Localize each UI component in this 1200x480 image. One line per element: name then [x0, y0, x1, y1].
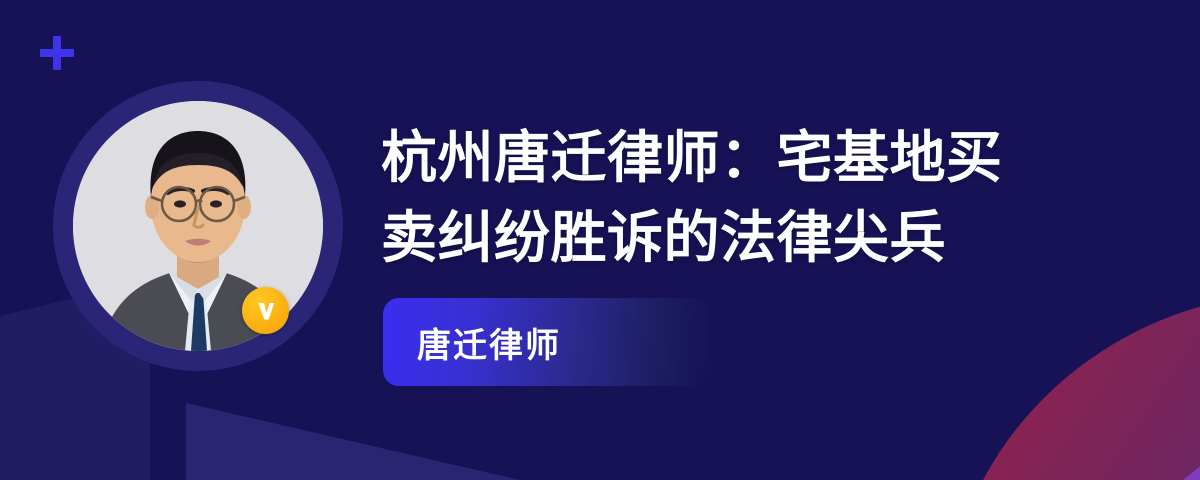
- author-badge-button[interactable]: 唐迁律师: [383, 298, 710, 386]
- promo-banner: 杭州唐迁律师：宅基地买 卖纠纷胜诉的法律尖兵 唐迁律师: [0, 0, 1200, 480]
- verified-badge: [242, 287, 289, 334]
- plus-icon: [40, 36, 74, 70]
- author-badge-label: 唐迁律师: [417, 318, 561, 367]
- check-v-icon: [252, 297, 280, 325]
- avatar: [53, 81, 343, 371]
- page-title: 杭州唐迁律师：宅基地买 卖纠纷胜诉的法律尖兵: [381, 118, 1081, 278]
